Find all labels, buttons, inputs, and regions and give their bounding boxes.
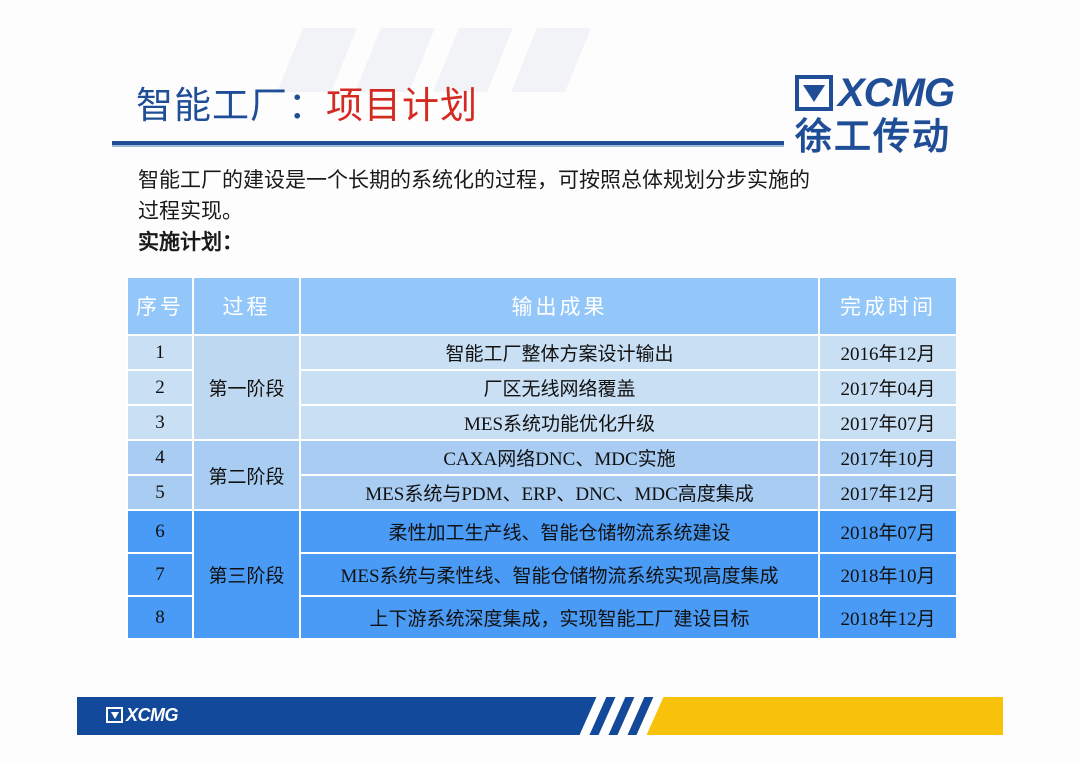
cell-no: 1: [127, 335, 193, 370]
brand-logo-wordmark: XCMG: [838, 73, 954, 113]
cell-no: 4: [127, 440, 193, 475]
cell-no: 8: [127, 596, 193, 639]
cell-time: 2018年10月: [819, 553, 957, 596]
cell-time: 2017年07月: [819, 405, 957, 440]
implementation-plan-table: 序号 过程 输出成果 完成时间 1 第一阶段 智能工厂整体方案设计输出 2016…: [126, 276, 958, 640]
footer-xcmg-logo: XCMG: [106, 706, 178, 724]
cell-phase: 第二阶段: [193, 440, 300, 510]
cell-time: 2018年07月: [819, 510, 957, 553]
page-title-primary: 智能工厂：: [136, 86, 326, 127]
brand-logo-subtitle: 徐工传动: [795, 116, 985, 158]
column-header-phase: 过程: [193, 277, 300, 335]
cell-time: 2017年04月: [819, 370, 957, 405]
cell-time: 2018年12月: [819, 596, 957, 639]
cell-output: 上下游系统深度集成，实现智能工厂建设目标: [300, 596, 819, 639]
column-header-output: 输出成果: [300, 277, 819, 335]
cell-output: MES系统功能优化升级: [300, 405, 819, 440]
slide-canvas: 智能工厂：项目计划 XCMG 徐工传动 智能工厂的建设是一个长期的系统化的过程，…: [0, 0, 1080, 764]
cell-no: 6: [127, 510, 193, 553]
page-title: 智能工厂：项目计划: [136, 83, 478, 131]
table-row: 6 第三阶段 柔性加工生产线、智能仓储物流系统建设 2018年07月: [127, 510, 957, 553]
table-header-row: 序号 过程 输出成果 完成时间: [127, 277, 957, 335]
table-row: 1 第一阶段 智能工厂整体方案设计输出 2016年12月: [127, 335, 957, 370]
brand-logo-row: XCMG: [795, 72, 985, 114]
title-underline-rule-secondary: [112, 145, 784, 147]
xcmg-hexagon-triangle-icon: [795, 75, 833, 111]
cell-no: 7: [127, 553, 193, 596]
column-header-no: 序号: [127, 277, 193, 335]
xcmg-brand-logo: XCMG 徐工传动: [795, 72, 985, 158]
xcmg-hexagon-triangle-icon: [106, 707, 123, 723]
footer-bar: XCMG: [77, 697, 1003, 735]
footer-yellow-block: [607, 697, 1003, 735]
footer-logo-wordmark: XCMG: [126, 706, 178, 724]
cell-no: 5: [127, 475, 193, 510]
cell-time: 2016年12月: [819, 335, 957, 370]
page-title-accent: 项目计划: [326, 86, 478, 127]
cell-time: 2017年12月: [819, 475, 957, 510]
cell-output: MES系统与PDM、ERP、DNC、MDC高度集成: [300, 475, 819, 510]
column-header-time: 完成时间: [819, 277, 957, 335]
cell-output: 柔性加工生产线、智能仓储物流系统建设: [300, 510, 819, 553]
intro-paragraph: 智能工厂的建设是一个长期的系统化的过程，可按照总体规划分步实施的 过程实现。 实…: [138, 165, 898, 258]
cell-time: 2017年10月: [819, 440, 957, 475]
cell-output: MES系统与柔性线、智能仓储物流系统实现高度集成: [300, 553, 819, 596]
cell-no: 3: [127, 405, 193, 440]
cell-phase: 第一阶段: [193, 335, 300, 440]
cell-output: CAXA网络DNC、MDC实施: [300, 440, 819, 475]
cell-no: 2: [127, 370, 193, 405]
cell-output: 厂区无线网络覆盖: [300, 370, 819, 405]
table-row: 4 第二阶段 CAXA网络DNC、MDC实施 2017年10月: [127, 440, 957, 475]
watermark-stripe: [511, 28, 591, 92]
intro-line-3: 实施计划：: [138, 227, 898, 258]
cell-phase: 第三阶段: [193, 510, 300, 639]
intro-line-1: 智能工厂的建设是一个长期的系统化的过程，可按照总体规划分步实施的: [138, 165, 898, 196]
intro-line-2: 过程实现。: [138, 196, 898, 227]
cell-output: 智能工厂整体方案设计输出: [300, 335, 819, 370]
